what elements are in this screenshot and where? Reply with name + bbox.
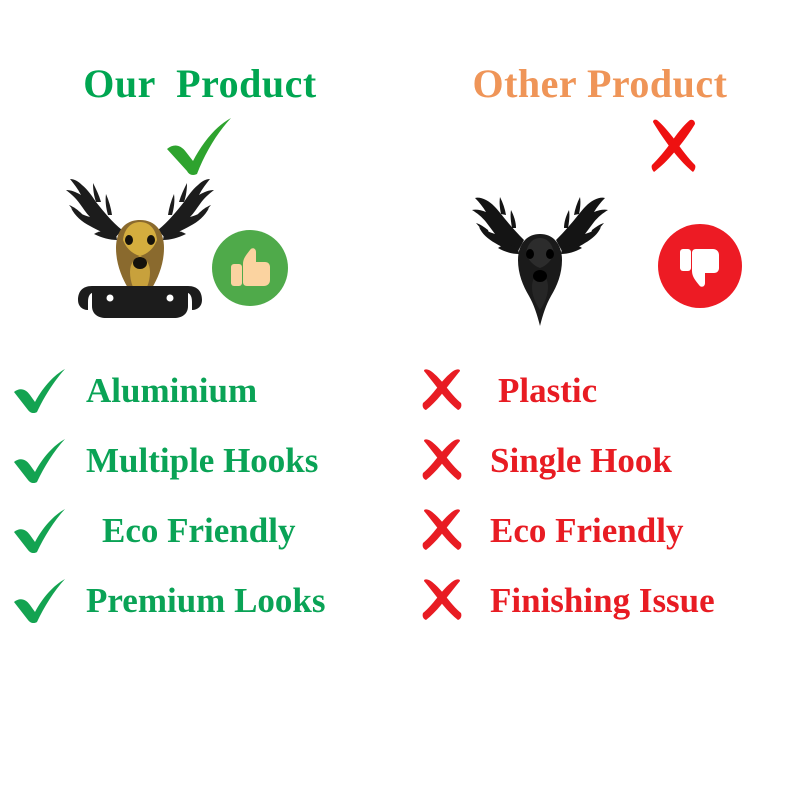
check-mark-icon [0,368,72,414]
feature-row: Single Hook [400,426,800,496]
cross-mark-icon [400,439,472,483]
other-product-column: Other Product [400,0,800,800]
feature-label: Eco Friendly [490,512,683,550]
our-product-column: Our Product [0,0,400,800]
feature-row: Eco Friendly [400,496,800,566]
check-mark-icon [0,508,72,554]
feature-label: Multiple Hooks [86,442,318,480]
feature-label: Premium Looks [86,582,326,620]
feature-label: Eco Friendly [102,512,295,550]
cross-mark-icon [400,579,472,623]
check-mark-icon [0,578,72,624]
feature-label: Plastic [498,372,597,410]
thumbs-down-icon [676,242,724,290]
thumbs-down-badge [658,224,742,308]
thumbs-up-badge [212,230,288,306]
feature-row: Finishing Issue [400,566,800,636]
other-product-showcase [400,168,800,346]
feature-label: Single Hook [490,442,672,480]
feature-row: Multiple Hooks [0,426,400,496]
feature-label: Finishing Issue [490,582,715,620]
our-product-feature-list: Aluminium Multiple Hooks Eco Friendly [0,356,400,636]
our-product-showcase [0,168,400,346]
feature-row: Premium Looks [0,566,400,636]
check-mark-icon [0,438,72,484]
our-product-heading: Our Product [0,62,400,106]
cross-mark-icon [400,369,472,413]
product-comparison-infographic: Our Product [0,0,800,800]
cross-mark-icon [400,509,472,553]
feature-row: Plastic [400,356,800,426]
gold-deer-head-hook-icon [52,168,228,328]
black-deer-head-hook-icon [460,190,620,330]
other-product-feature-list: Plastic Single Hook Eco [400,356,800,636]
thumbs-up-icon [227,245,273,291]
feature-label: Aluminium [86,372,257,410]
feature-row: Aluminium [0,356,400,426]
feature-row: Eco Friendly [0,496,400,566]
other-product-heading: Other Product [400,62,800,106]
